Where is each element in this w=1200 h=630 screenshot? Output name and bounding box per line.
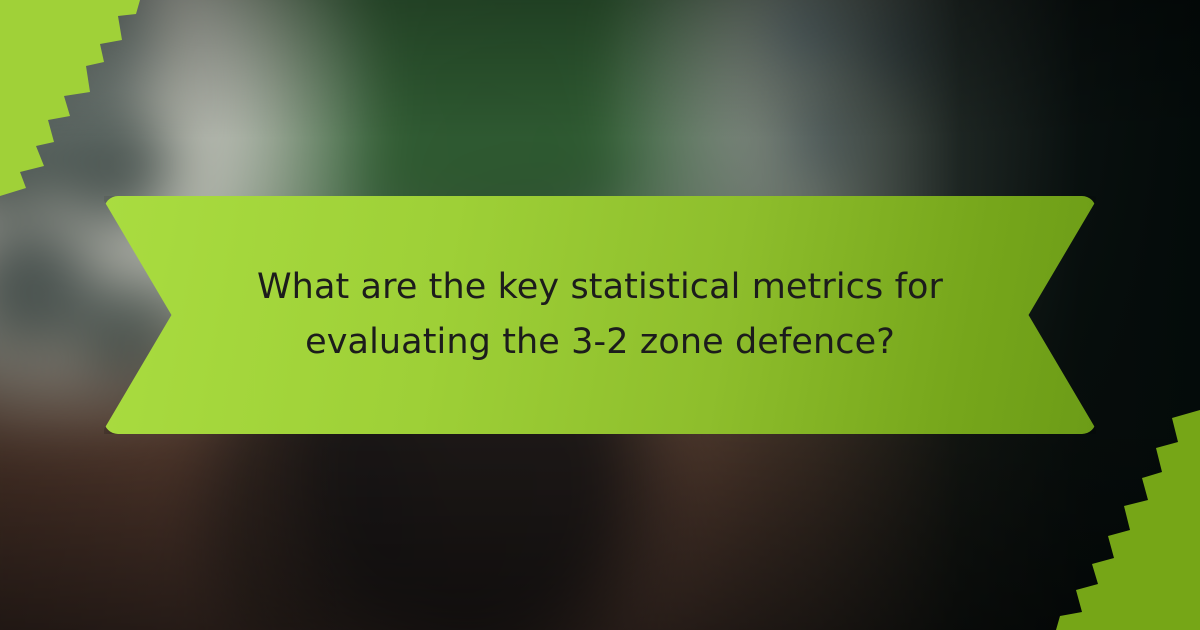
question-line-2: evaluating the 3-2 zone defence? — [305, 322, 895, 363]
question-line-1: What are the key statistical metrics for — [257, 267, 943, 308]
question-banner: What are the key statistical metrics for… — [104, 196, 1096, 434]
poster-canvas: What are the key statistical metrics for… — [0, 0, 1200, 630]
question-text-block: What are the key statistical metrics for… — [104, 196, 1096, 434]
